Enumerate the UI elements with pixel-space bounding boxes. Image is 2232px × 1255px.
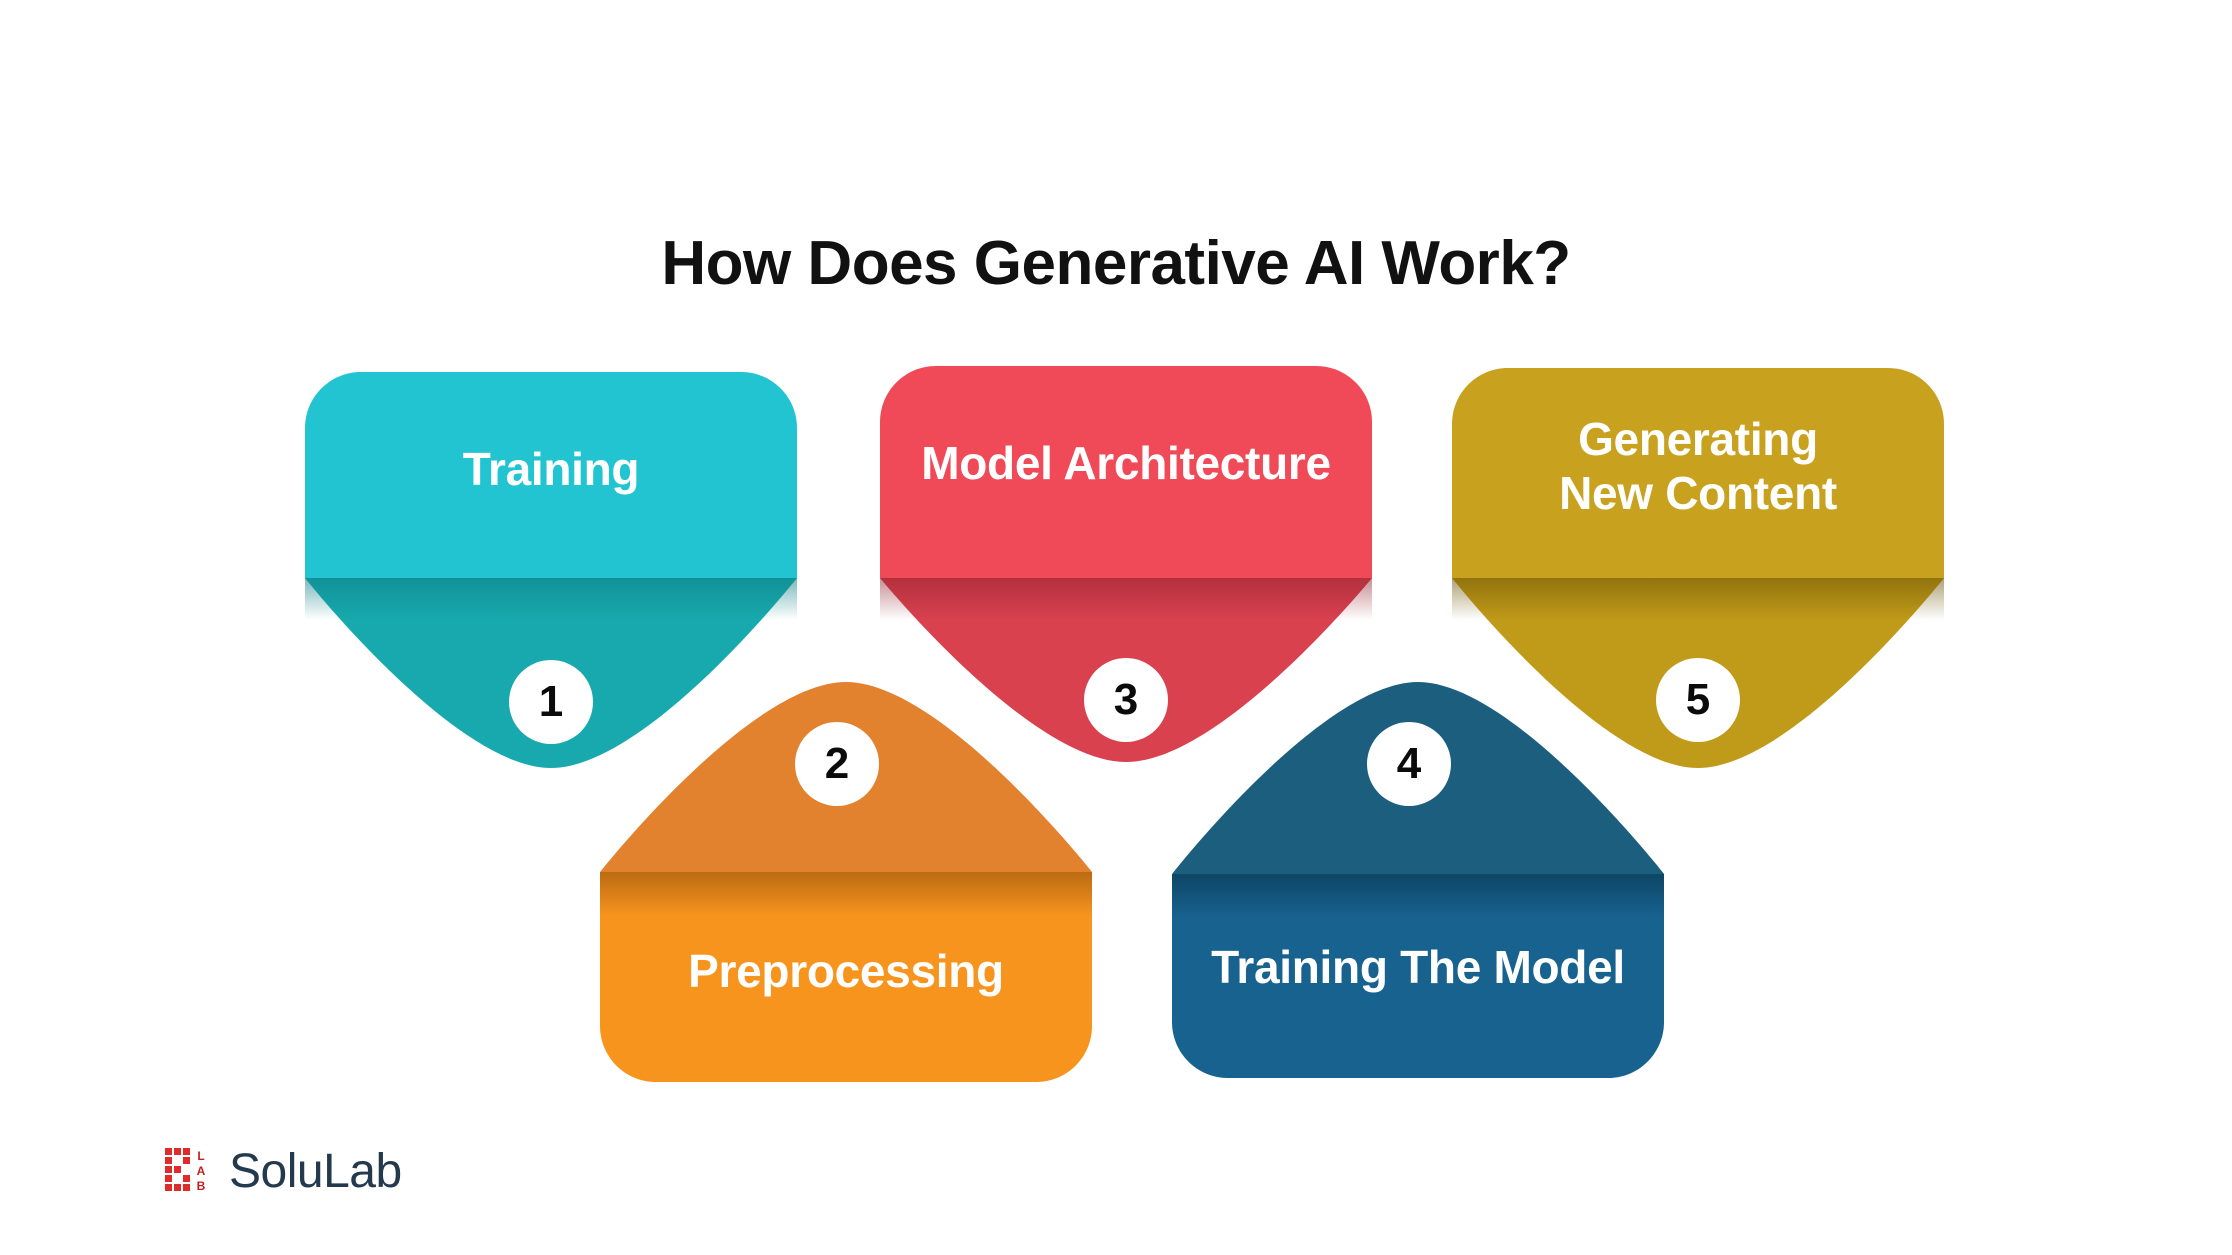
svg-text:B: B [197,1179,206,1193]
step-2-number-badge: 2 [795,722,879,806]
infographic-canvas: How Does Generative AI Work? Training 1 [0,0,2232,1255]
step-card-generating-new-content[interactable]: Generating New Content 5 [1452,368,1944,772]
solulab-mark-icon: L A B [163,1146,215,1198]
solulab-logo[interactable]: L A B SoluLab [163,1146,402,1198]
svg-text:L: L [197,1149,204,1163]
svg-text:A: A [197,1164,206,1178]
solulab-logo-text: SoluLab [229,1148,402,1196]
step-4-number-badge: 4 [1367,722,1451,806]
step-3-number-badge: 3 [1084,658,1168,742]
page-title: How Does Generative AI Work? [0,228,2232,299]
step-1-number-badge: 1 [509,660,593,744]
step-5-number-badge: 5 [1656,658,1740,742]
